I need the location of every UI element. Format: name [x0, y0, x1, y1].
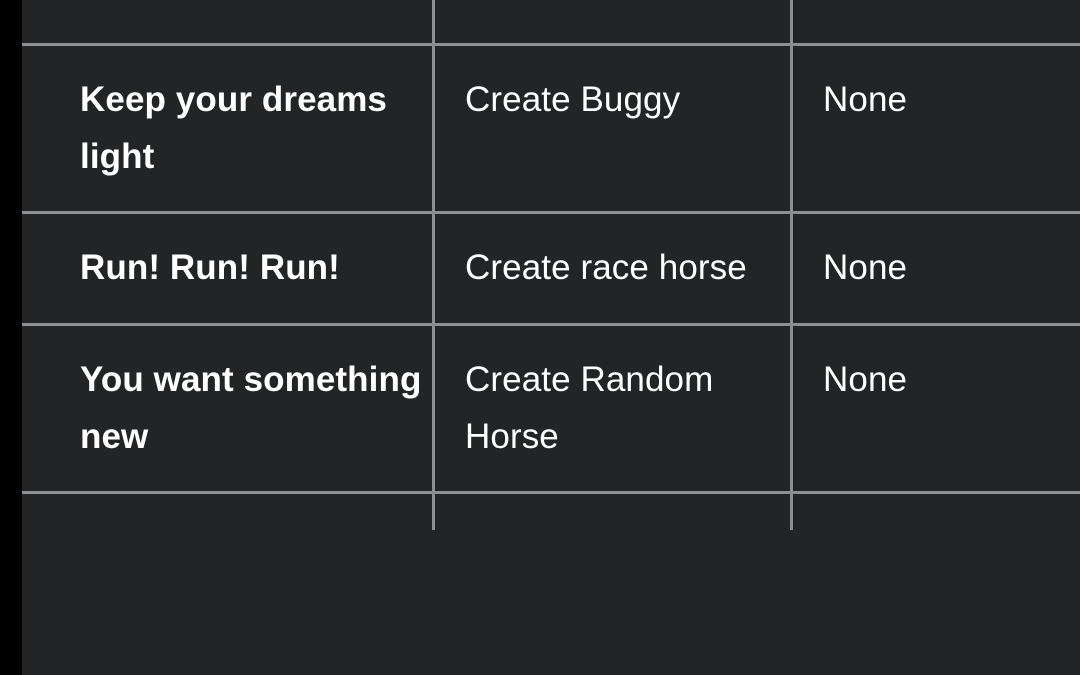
cell-text: None [823, 240, 1080, 297]
table-cell-prompt: Run! Run! Run! [22, 213, 434, 325]
document-page: Keep your dreams light Create Buggy None… [22, 0, 1080, 675]
cell-text: None [823, 352, 1080, 409]
cell-text: Run! Run! Run! [80, 240, 432, 297]
cell-text: Create race horse [465, 240, 790, 297]
screenshot-root: Keep your dreams light Create Buggy None… [0, 0, 1080, 675]
table-cell-notes: None [792, 325, 1080, 493]
table-cell-notes [792, 493, 1080, 531]
data-table: Keep your dreams light Create Buggy None… [22, 0, 1080, 530]
table-cell-notes: None [792, 45, 1080, 213]
table-cell-action: Create race horse [434, 213, 792, 325]
table-row: Run! Run! Run! Create race horse None [22, 213, 1080, 325]
table-body: Keep your dreams light Create Buggy None… [22, 0, 1080, 530]
table-row [22, 0, 1080, 45]
table-cell-prompt: You want something new [22, 325, 434, 493]
table-row [22, 493, 1080, 531]
cell-text: None [823, 72, 1080, 129]
table-row: You want something new Create Random Hor… [22, 325, 1080, 493]
table-row: Keep your dreams light Create Buggy None [22, 45, 1080, 213]
cell-text: You want something new [80, 352, 432, 465]
cell-text: Keep your dreams light [80, 72, 432, 185]
table-cell-action [434, 0, 792, 45]
table-cell-notes [792, 0, 1080, 45]
table-cell-notes: None [792, 213, 1080, 325]
table-cell-prompt: Keep your dreams light [22, 45, 434, 213]
table-cell-prompt [22, 0, 434, 45]
cell-text: Create Buggy [465, 72, 790, 129]
cell-text: Create Random Horse [465, 352, 790, 465]
table-cell-action: Create Buggy [434, 45, 792, 213]
table-cell-action [434, 493, 792, 531]
table-cell-action: Create Random Horse [434, 325, 792, 493]
table-cell-prompt [22, 493, 434, 531]
